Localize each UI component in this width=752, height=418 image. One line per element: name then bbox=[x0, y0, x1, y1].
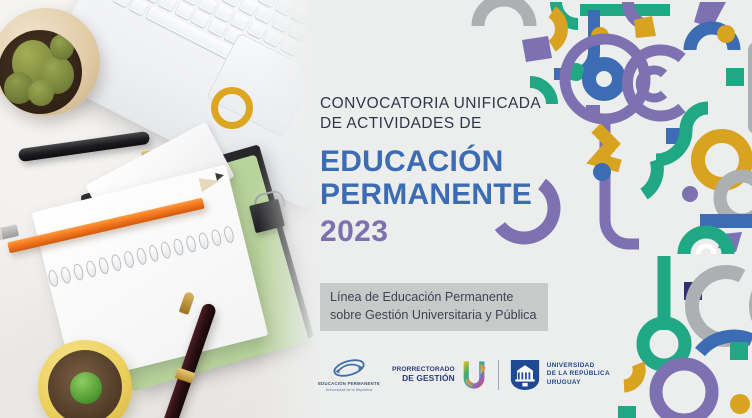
logo-udelar: UNIVERSIDAD DE LA REPÚBLICA URUGUAY bbox=[510, 359, 610, 391]
kicker-text: CONVOCATORIA UNIFICADA DE ACTIVIDADES DE bbox=[320, 94, 570, 133]
logo-ep-line1: EDUCACIÓN PERMANENTE bbox=[318, 381, 380, 386]
logo-pg-text: PRORRECTORADO DE GESTIÓN bbox=[392, 367, 455, 383]
subtitle-text: Línea de Educación Permanente sobre Gest… bbox=[330, 289, 537, 324]
poster-canvas: CONVOCATORIA UNIFICADA DE ACTIVIDADES DE… bbox=[0, 0, 752, 418]
subtitle-box: Línea de Educación Permanente sobre Gest… bbox=[320, 283, 548, 331]
headline-block: CONVOCATORIA UNIFICADA DE ACTIVIDADES DE… bbox=[320, 94, 570, 249]
swirl-ribbon-icon bbox=[328, 357, 370, 379]
gradient-u-icon bbox=[461, 360, 487, 390]
logo-prorrectorado: PRORRECTORADO DE GESTIÓN bbox=[392, 360, 487, 390]
page-title: EDUCACIÓN PERMANENTE bbox=[320, 145, 570, 211]
udelar-shield-icon bbox=[510, 359, 540, 391]
logo-divider bbox=[498, 360, 499, 390]
logo-pg-line2: DE GESTIÓN bbox=[402, 374, 455, 383]
logo-strip: EDUCACIÓN PERMANENTE Universidad de la R… bbox=[312, 357, 610, 392]
logo-udelar-text: UNIVERSIDAD DE LA REPÚBLICA URUGUAY bbox=[547, 362, 610, 387]
logo-educacion-permanente: EDUCACIÓN PERMANENTE Universidad de la R… bbox=[312, 357, 386, 392]
logo-ep-line2: Universidad de la República bbox=[326, 388, 372, 392]
year-label: 2023 bbox=[320, 215, 570, 249]
logo-udelar-line3: URUGUAY bbox=[547, 379, 610, 387]
logo-udelar-line2: DE LA REPÚBLICA bbox=[547, 370, 610, 378]
